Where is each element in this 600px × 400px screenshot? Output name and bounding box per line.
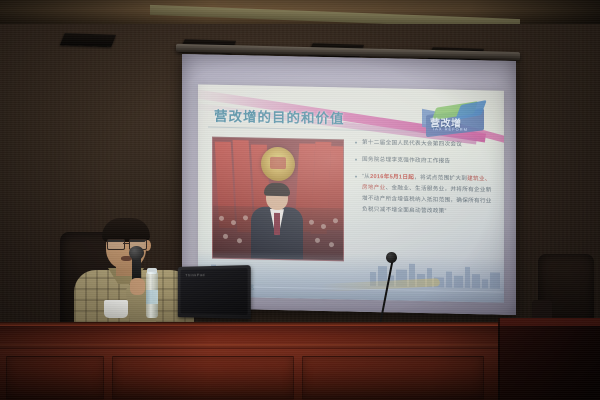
national-emblem-icon xyxy=(261,147,295,182)
quote-lead: “从 xyxy=(362,174,370,180)
microphone-head-icon xyxy=(129,246,144,260)
ceiling-vent xyxy=(60,33,116,47)
presenter-hand xyxy=(130,278,145,295)
slide-title: 营改增的目的和价值 xyxy=(214,105,345,128)
bullet-item: 第十二届全国人民代表大会第四次会议 xyxy=(354,138,494,151)
quote-mid-1: ，将试点范围扩大到 xyxy=(414,175,467,182)
slide-bullet-list: 第十二届全国人民代表大会第四次会议 国务院总理李克强作政府工作报告 “从2016… xyxy=(354,138,494,226)
quote-highlight-date: 2016年5月1日起 xyxy=(370,174,414,181)
slide-photo-congress xyxy=(212,137,344,262)
laptop: ThinkPad xyxy=(178,265,251,319)
laptop-brand-label: ThinkPad xyxy=(185,272,205,277)
deco-logo-subtext: TAX REFORM xyxy=(432,126,468,132)
office-chair-right xyxy=(538,254,594,328)
bullet-item-quote: “从2016年5月1日起，将试点范围扩大到建筑业、房地产业、金融业、生活服务业，… xyxy=(354,172,494,219)
desk-shading xyxy=(0,326,600,400)
tax-reform-logo-graphic: 营改增 TAX REFORM xyxy=(414,101,498,143)
presenter-figure xyxy=(74,218,194,334)
water-bottle-label xyxy=(146,290,158,304)
microphone-stand-head xyxy=(386,252,397,263)
photo-speaker-figure xyxy=(251,184,303,259)
paper-cup xyxy=(104,300,128,318)
bullet-item: 国务院总理李克强作政府工作报告 xyxy=(354,155,494,168)
conference-room-photo: 营改增的目的和价值 营改增 TAX REFORM xyxy=(0,0,600,400)
